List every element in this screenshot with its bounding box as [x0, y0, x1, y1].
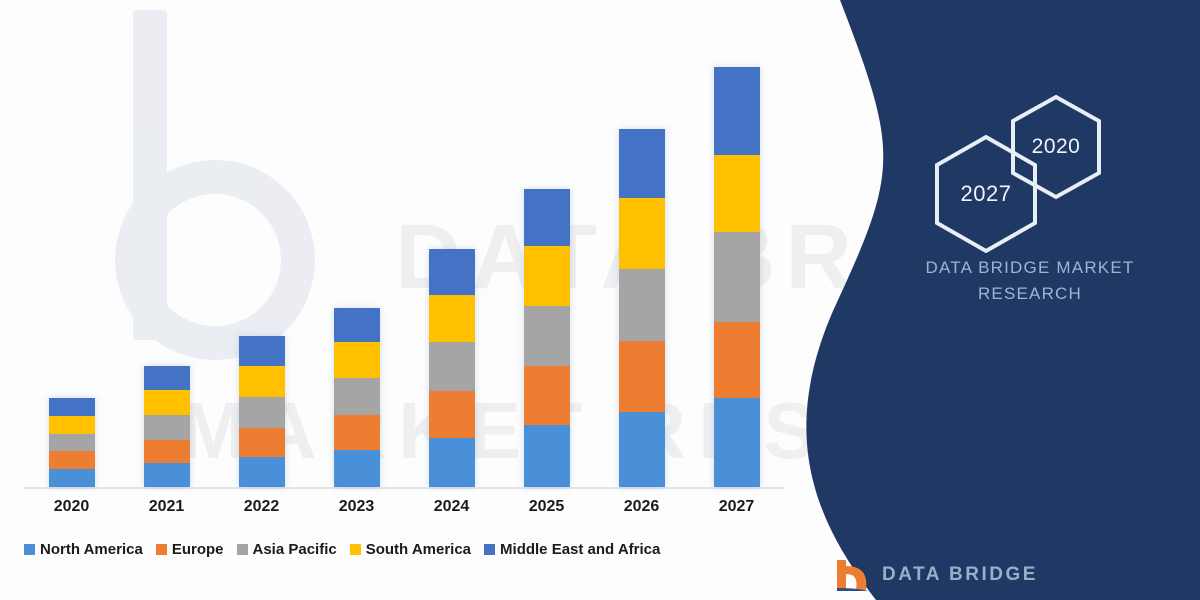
stacked-bar-2023[interactable]	[334, 308, 380, 487]
chart-panel: DATA BRIDGE MARKET RESEARCH 202020212022…	[0, 0, 900, 600]
bar-segment	[239, 397, 285, 428]
legend-label: Asia Pacific	[253, 541, 337, 558]
stacked-bar-2021[interactable]	[144, 366, 190, 487]
bar-segment	[524, 306, 570, 366]
bar-segment	[429, 438, 475, 487]
x-axis-label-2023: 2023	[309, 498, 404, 516]
bar-segment	[334, 415, 380, 451]
bar-segment	[619, 341, 665, 412]
bar-segment	[334, 342, 380, 378]
bar-slot	[119, 60, 214, 487]
bar-segment	[619, 412, 665, 487]
bar-segment	[239, 457, 285, 487]
bar-segment	[714, 322, 760, 398]
bar-segment	[429, 249, 475, 295]
legend-item[interactable]: Middle East and Africa	[484, 541, 660, 558]
bar-segment	[144, 415, 190, 440]
bar-segment	[429, 391, 475, 438]
bar-segment	[334, 378, 380, 415]
bar-segment	[714, 398, 760, 487]
bar-slot	[689, 60, 784, 487]
bar-segment	[429, 295, 475, 342]
bar-segment	[49, 398, 95, 416]
company-logo: DATA BRIDGE	[835, 558, 1038, 592]
bar-segment	[524, 246, 570, 305]
x-axis-label-2027: 2027	[689, 498, 784, 516]
stacked-bar-2026[interactable]	[619, 129, 665, 487]
bar-segment	[49, 434, 95, 452]
hexagon-2020: 2020	[1008, 94, 1104, 200]
bar-segment	[714, 232, 760, 322]
legend-swatch-icon	[350, 544, 361, 555]
legend-swatch-icon	[484, 544, 495, 555]
bar-segment	[619, 269, 665, 341]
legend-swatch-icon	[156, 544, 167, 555]
x-axis-label-2020: 2020	[24, 498, 119, 516]
bar-segment	[714, 155, 760, 232]
x-axis-label-2025: 2025	[499, 498, 594, 516]
brand-wordmark: DATA BRIDGE MARKET RESEARCH	[880, 255, 1180, 307]
chart-screenshot: DATA BRIDGE MARKET RESEARCH 202020212022…	[0, 0, 1200, 600]
stacked-bar-2020[interactable]	[49, 398, 95, 487]
bar-segment	[524, 366, 570, 425]
stacked-bar-2025[interactable]	[524, 189, 570, 487]
bar-segment	[49, 416, 95, 434]
x-axis-labels: 20202021202220232024202520262027	[24, 498, 784, 516]
bar-segment	[239, 428, 285, 458]
legend-item[interactable]: Europe	[156, 541, 224, 558]
legend-swatch-icon	[237, 544, 248, 555]
bar-segment	[144, 390, 190, 415]
bar-segment	[619, 129, 665, 198]
bar-segment	[144, 440, 190, 464]
legend-label: Middle East and Africa	[500, 541, 660, 558]
x-axis-label-2026: 2026	[594, 498, 689, 516]
x-axis-label-2022: 2022	[214, 498, 309, 516]
legend-label: Europe	[172, 541, 224, 558]
bar-segment	[334, 450, 380, 487]
legend-item[interactable]: South America	[350, 541, 471, 558]
bar-segment	[144, 366, 190, 390]
bar-segment	[239, 366, 285, 397]
legend-label: South America	[366, 541, 471, 558]
bar-slot	[404, 60, 499, 487]
bar-slot	[594, 60, 689, 487]
brand-wordmark-line-1: DATA BRIDGE MARKET	[880, 255, 1180, 281]
x-axis-label-2021: 2021	[119, 498, 214, 516]
bar-segment	[144, 463, 190, 487]
bar-slot	[309, 60, 404, 487]
bar-segment	[714, 67, 760, 155]
bar-segment	[619, 198, 665, 269]
brand-panel: 2027 2020 DATA BRIDGE MARKET RESEARCH	[780, 0, 1200, 600]
bar-slot	[24, 60, 119, 487]
chart-legend: North AmericaEuropeAsia PacificSouth Ame…	[24, 541, 814, 558]
bar-group	[24, 60, 784, 487]
brand-wordmark-line-2: RESEARCH	[880, 281, 1180, 307]
bar-segment	[239, 336, 285, 366]
company-logo-text: DATA BRIDGE	[882, 564, 1038, 586]
bar-segment	[49, 451, 95, 469]
bar-segment	[524, 189, 570, 246]
legend-item[interactable]: North America	[24, 541, 143, 558]
stacked-bar-2022[interactable]	[239, 336, 285, 487]
x-axis-label-2024: 2024	[404, 498, 499, 516]
bar-segment	[524, 425, 570, 487]
bridge-logo-icon	[835, 558, 871, 592]
plot-area: 20202021202220232024202520262027	[0, 0, 900, 600]
bar-segment	[49, 469, 95, 487]
legend-item[interactable]: Asia Pacific	[237, 541, 337, 558]
hexagon-2020-label: 2020	[1008, 94, 1104, 200]
bar-slot	[499, 60, 594, 487]
x-axis-line	[24, 487, 784, 489]
bar-segment	[429, 342, 475, 391]
legend-label: North America	[40, 541, 143, 558]
stacked-bar-2024[interactable]	[429, 249, 475, 487]
legend-swatch-icon	[24, 544, 35, 555]
stacked-bar-2027[interactable]	[714, 67, 760, 487]
bar-segment	[334, 308, 380, 342]
bar-slot	[214, 60, 309, 487]
